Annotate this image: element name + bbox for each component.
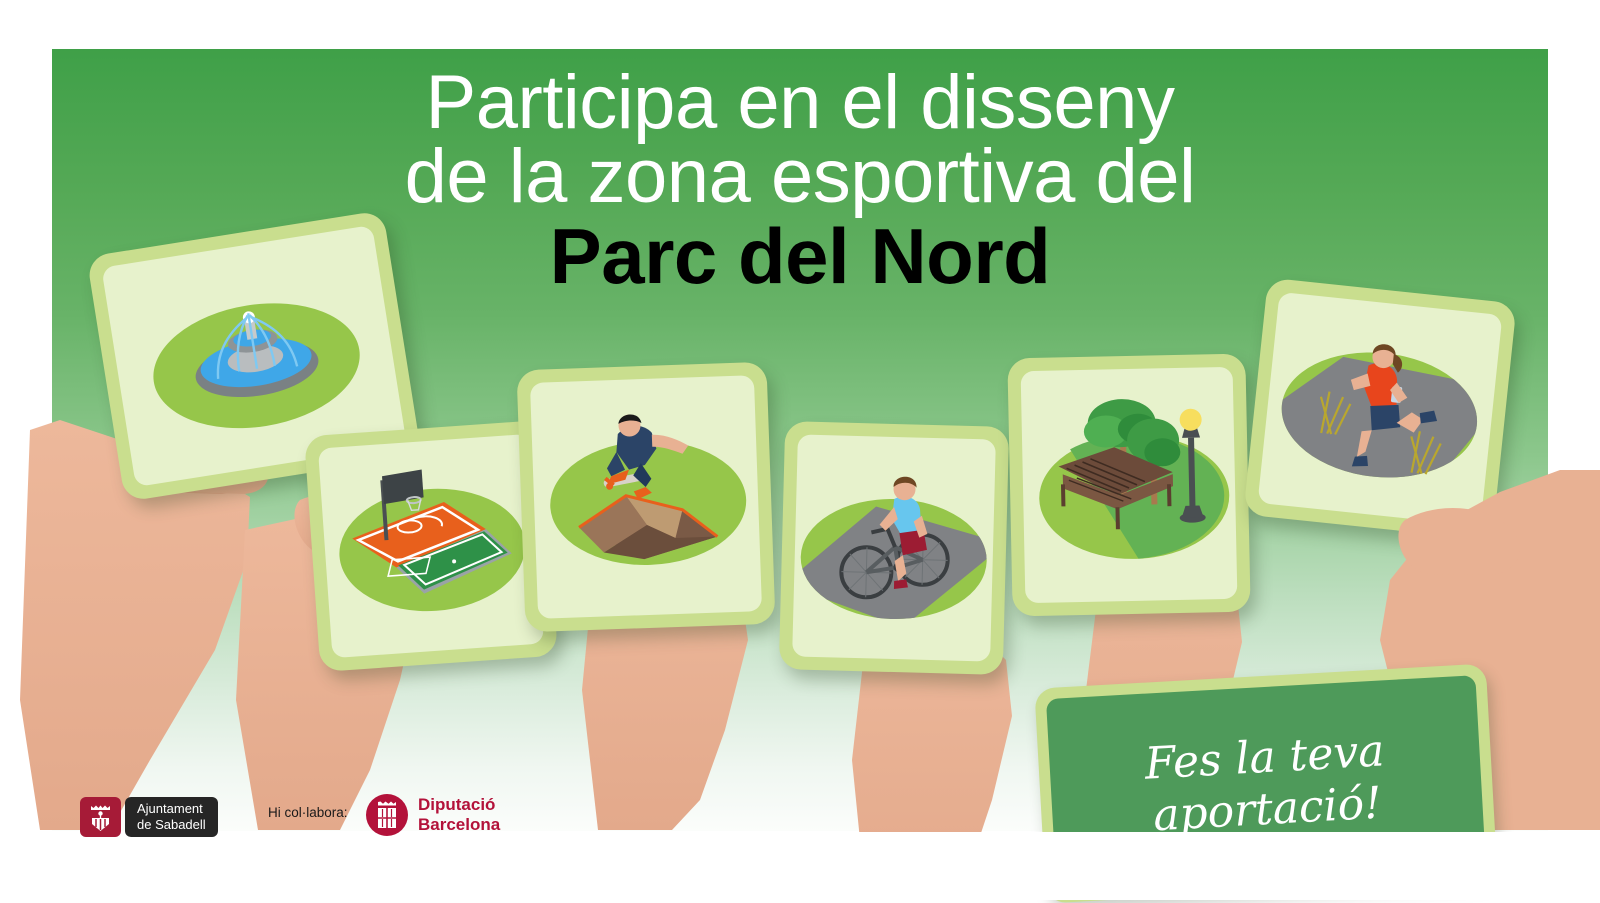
card-park-bench-inner	[1021, 367, 1238, 603]
card-running-path-inner	[1258, 292, 1503, 526]
logo-diputacio-barcelona[interactable]: Diputació Barcelona	[366, 794, 500, 836]
ajuntament-line-1: Ajuntament	[137, 801, 206, 817]
diputacio-name: Diputació Barcelona	[418, 795, 500, 836]
ajuntament-line-2: de Sabadell	[137, 817, 206, 833]
card-running-path[interactable]	[1243, 278, 1517, 541]
ajuntament-name: Ajuntament de Sabadell	[125, 797, 218, 837]
sports-court-illustration	[318, 434, 544, 658]
skateboarder-figure	[601, 412, 690, 500]
runner-illustration	[1258, 292, 1503, 526]
footer-logos: Ajuntament de Sabadell Hi col·labora:	[0, 832, 1600, 900]
diputacio-seal-icon	[366, 794, 408, 836]
card-sports-court-inner	[318, 434, 544, 658]
banner-root: Participa en el disseny de la zona espor…	[0, 0, 1600, 900]
card-skate-ramp[interactable]	[517, 362, 776, 633]
diputacio-line-1: Diputació	[418, 795, 500, 815]
sabadell-crest-icon	[80, 797, 121, 837]
logo-ajuntament-de-sabadell[interactable]: Ajuntament de Sabadell	[80, 797, 218, 837]
diputacio-line-2: Barcelona	[418, 815, 500, 835]
card-park-bench[interactable]	[1007, 354, 1250, 617]
card-cycling-path[interactable]	[779, 421, 1009, 675]
collaborator-label: Hi col·labora:	[268, 805, 348, 820]
skate-ramp-illustration	[530, 375, 762, 619]
call-to-action-text: Fes la teva aportació!	[1143, 725, 1388, 842]
card-skate-ramp-inner	[530, 375, 762, 619]
card-cycling-path-inner	[792, 434, 996, 661]
cyclist-illustration	[792, 434, 996, 661]
park-illustration	[1021, 367, 1238, 603]
